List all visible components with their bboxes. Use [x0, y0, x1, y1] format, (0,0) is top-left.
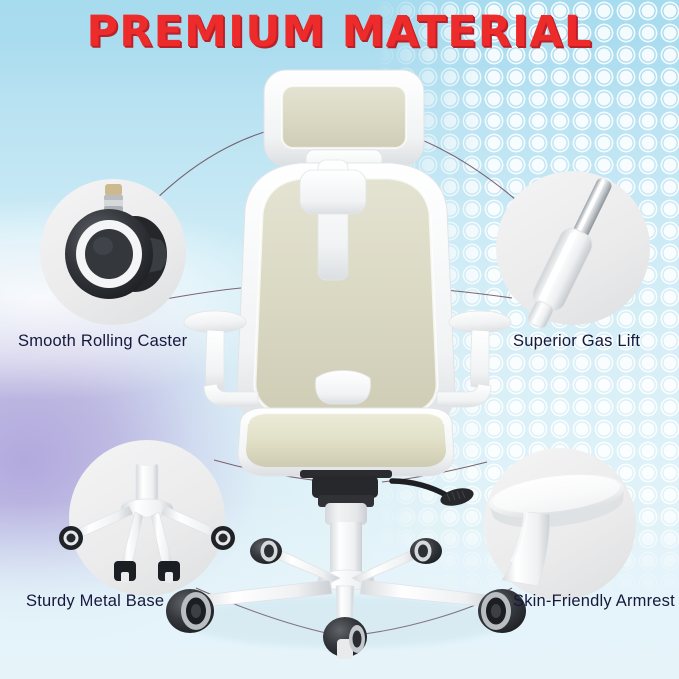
page-title: PREMIUM MATERIAL — [0, 6, 679, 58]
callout-label-gas-lift: Superior Gas Lift — [513, 332, 640, 351]
infographic-canvas: PREMIUM MATERIAL Smooth Rolling Caster S… — [0, 0, 679, 679]
callout-label-metal-base: Sturdy Metal Base — [26, 592, 164, 611]
chair-seat — [238, 408, 454, 476]
callout-armrest[interactable] — [484, 448, 636, 600]
callout-label-armrest: Skin-Friendly Armrest — [513, 592, 675, 611]
callout-metal-base[interactable] — [59, 440, 235, 596]
callout-caster[interactable] — [40, 179, 186, 325]
chair-headrest — [264, 70, 424, 176]
tilt-lever-knob — [439, 485, 476, 509]
chair-mechanism — [300, 470, 475, 509]
callout-label-caster: Smooth Rolling Caster — [18, 332, 187, 351]
lumbar-pad — [316, 371, 371, 405]
office-chair — [166, 70, 526, 659]
tilt-lever-arm — [392, 481, 446, 495]
chair-backrest — [237, 160, 455, 430]
callout-gas-lift[interactable] — [496, 171, 650, 333]
